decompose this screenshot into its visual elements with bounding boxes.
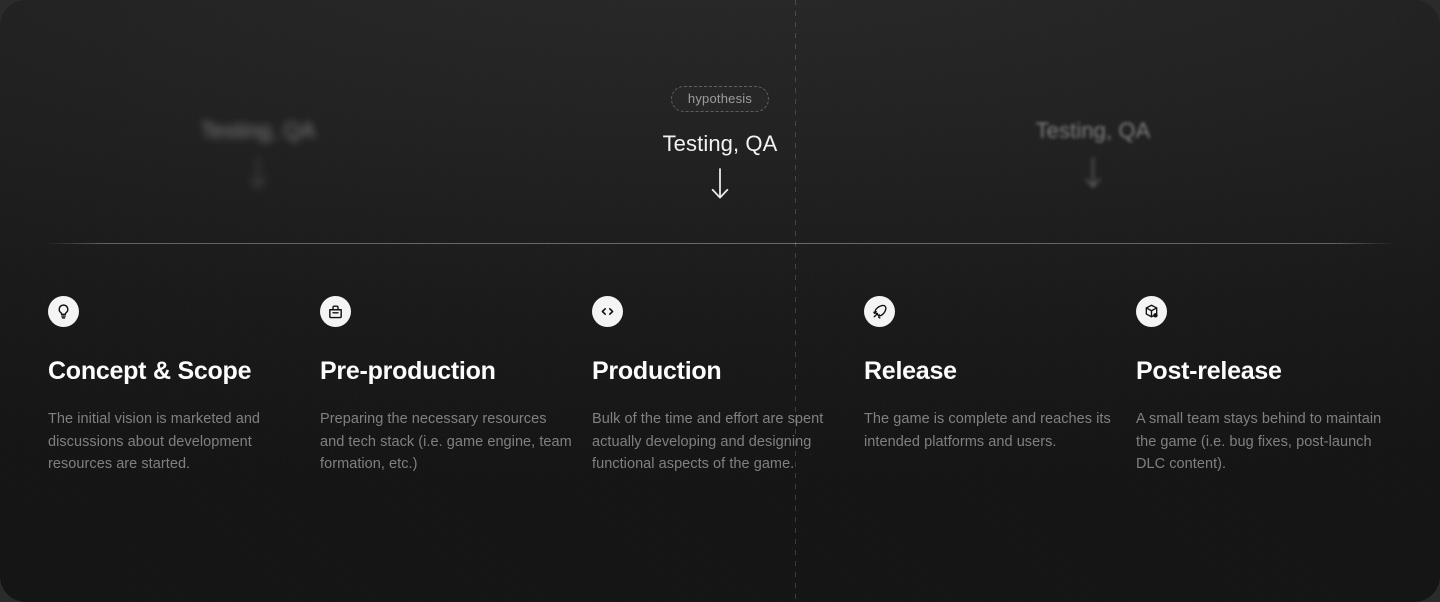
dark-panel: Testing, QA Testing, QA hypothesis	[0, 0, 1440, 602]
ghost-title-left: Testing, QA	[128, 118, 388, 144]
stage-title: Concept & Scope	[48, 357, 300, 386]
stage-title: Post-release	[1136, 357, 1388, 386]
toolbox-icon	[320, 296, 351, 327]
rocket-icon	[864, 296, 895, 327]
stage-item-release: Release The game is complete and reaches…	[864, 296, 1116, 476]
stage-description: The initial vision is marketed and discu…	[48, 408, 300, 476]
lightbulb-icon	[48, 296, 79, 327]
package-box-icon	[1136, 296, 1167, 327]
stage-item-production: Production Bulk of the time and effort a…	[592, 296, 844, 476]
code-brackets-icon	[592, 296, 623, 327]
ghost-cluster-right: Testing, QA	[963, 118, 1223, 194]
hero-arrow-down-icon	[550, 167, 890, 205]
stage-list: Concept & Scope The initial vision is ma…	[48, 296, 1392, 476]
ghost-arrow-right-icon	[963, 156, 1223, 194]
stage-item-concept-scope: Concept & Scope The initial vision is ma…	[48, 296, 300, 476]
ghost-arrow-left-icon	[128, 156, 388, 194]
stage-description: Preparing the necessary resources and te…	[320, 408, 572, 476]
stage-title: Pre-production	[320, 357, 572, 386]
stage-description: A small team stays behind to maintain th…	[1136, 408, 1388, 476]
stage-description: The game is complete and reaches its int…	[864, 408, 1116, 453]
hero-title: Testing, QA	[550, 131, 890, 157]
hero-cluster: hypothesis Testing, QA	[550, 86, 890, 205]
hypothesis-badge[interactable]: hypothesis	[671, 86, 769, 112]
timeline-divider	[48, 243, 1392, 244]
ghost-title-right: Testing, QA	[963, 118, 1223, 144]
stage-title: Production	[592, 357, 844, 386]
stage-item-post-release: Post-release A small team stays behind t…	[1136, 296, 1388, 476]
stage-title: Release	[864, 357, 1116, 386]
screenshot-root: Testing, QA Testing, QA hypothesis	[0, 0, 1440, 602]
stage-item-pre-production: Pre-production Preparing the necessary r…	[320, 296, 572, 476]
ghost-cluster-left: Testing, QA	[128, 118, 388, 194]
stage-description: Bulk of the time and effort are spent ac…	[592, 408, 844, 476]
